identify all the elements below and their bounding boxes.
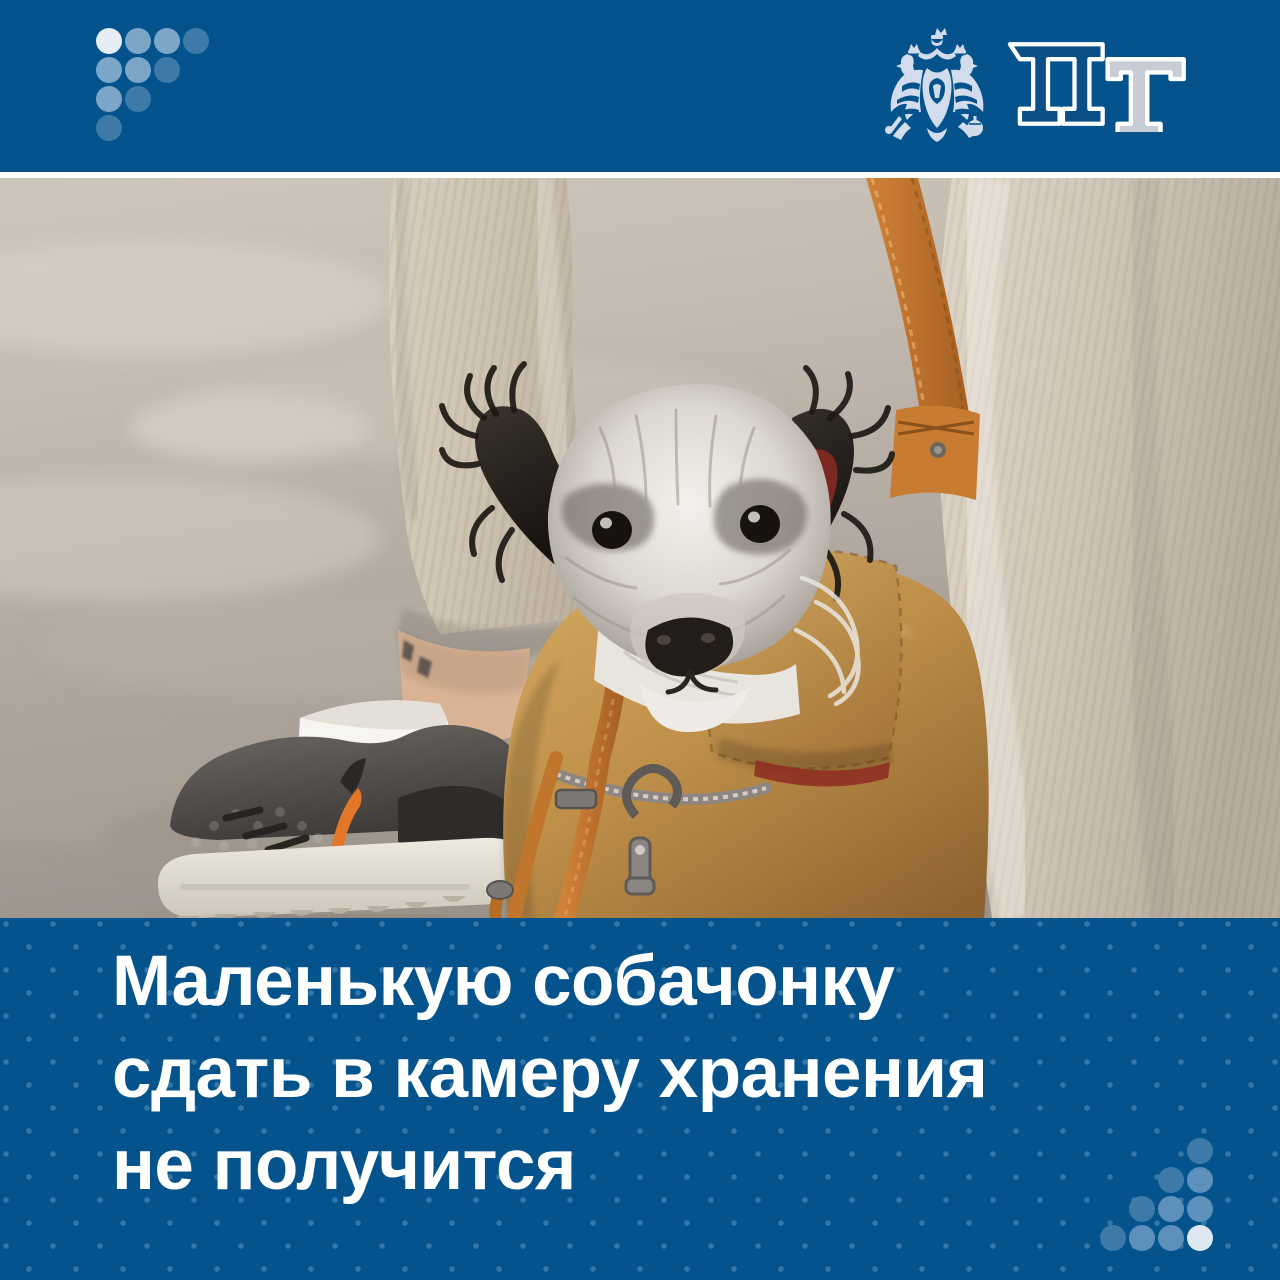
logo-dot	[1187, 1196, 1213, 1222]
headline-text: Маленькую собачонку сдать в камеру хране…	[112, 936, 1122, 1212]
logo-dot	[183, 28, 209, 54]
card-footer: Маленькую собачонку сдать в камеру хране…	[0, 918, 1280, 1280]
logo-dot	[125, 28, 151, 54]
footer-dot-matrix-logo[interactable]	[1100, 1138, 1212, 1250]
logo-dot	[1100, 1225, 1126, 1251]
logo-dot	[96, 28, 122, 54]
logo-dot	[1187, 1167, 1213, 1193]
logo-dot	[96, 86, 122, 112]
logo-dot	[1187, 1138, 1213, 1164]
logo-dot	[125, 86, 151, 112]
logo-dot	[125, 57, 151, 83]
article-photo	[0, 178, 1280, 918]
social-media-card: Маленькую собачонку сдать в камеру хране…	[0, 0, 1280, 1280]
logo-dot	[1187, 1225, 1213, 1251]
logo-dot	[1158, 1196, 1184, 1222]
logo-dot	[1158, 1225, 1184, 1251]
card-header	[0, 0, 1280, 178]
brand-dot-matrix-logo[interactable]	[96, 28, 208, 140]
logo-dot	[96, 115, 122, 141]
logo-dot	[1158, 1167, 1184, 1193]
logo-dot	[154, 57, 180, 83]
logo-dot	[96, 57, 122, 83]
logo-dot	[154, 28, 180, 54]
photo-illustration	[0, 178, 1280, 918]
pg-lettering	[1005, 36, 1190, 132]
logo-dot	[1129, 1225, 1155, 1251]
russian-double-headed-eagle-icon	[883, 24, 991, 144]
masthead-logo[interactable]	[883, 22, 1190, 146]
logo-dot	[1129, 1196, 1155, 1222]
